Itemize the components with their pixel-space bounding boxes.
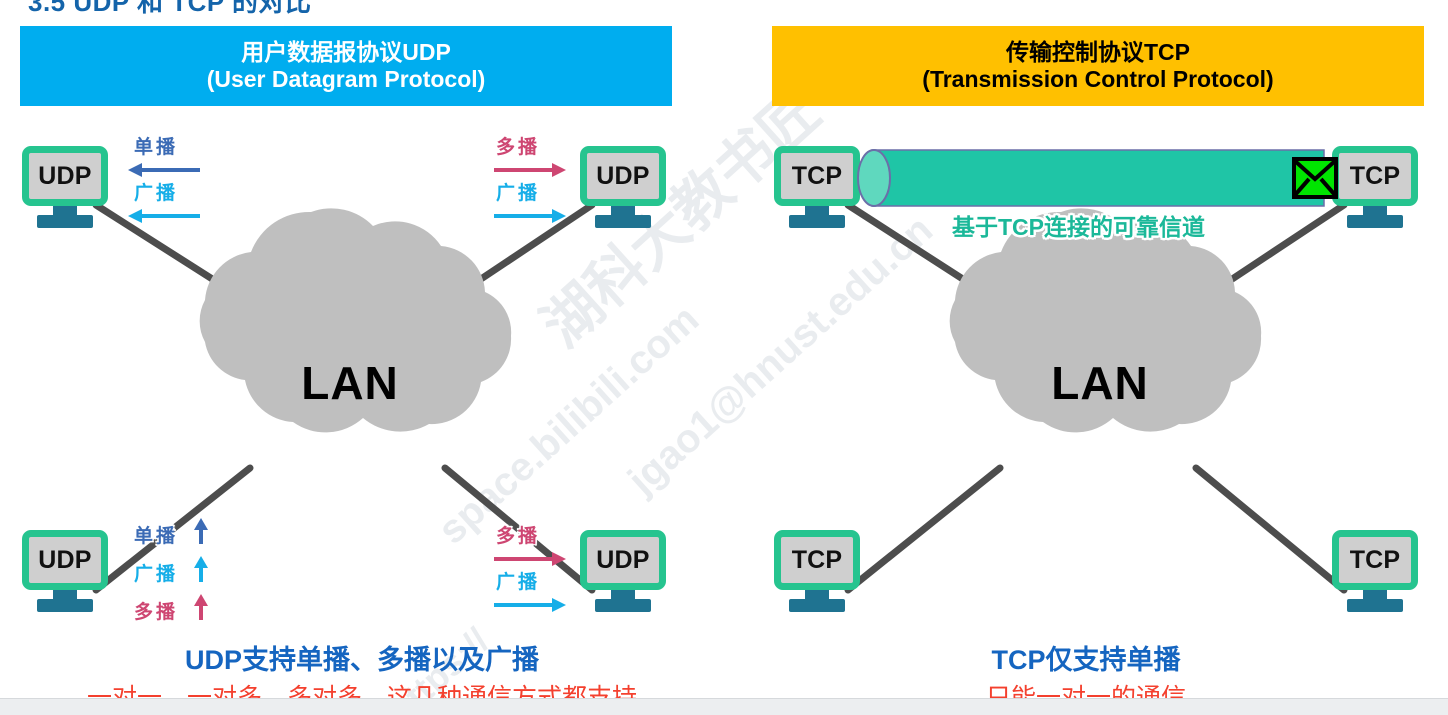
node-neck <box>53 206 77 215</box>
node-udp-top-right[interactable]: UDP <box>580 146 666 228</box>
node-neck <box>1363 590 1387 599</box>
node-neck <box>1363 206 1387 215</box>
udp-lan-label: LAN <box>205 300 495 465</box>
label-udp-bottomright-broadcast: 广播 <box>496 567 540 594</box>
node-base <box>37 599 93 612</box>
node-udp-bottom-left[interactable]: UDP <box>22 530 108 612</box>
bottom-strip <box>0 698 1448 715</box>
node-screen: UDP <box>22 146 108 206</box>
tcp-channel-label: 基于TCP连接的可靠信道 <box>952 208 1205 242</box>
slide-canvas: 3.5 UDP 和 TCP 的对比 湖科大教书匠 space.bilibili.… <box>0 0 1448 715</box>
label-udp-topright-multicast: 多播 <box>496 132 540 159</box>
label-udp-topright-broadcast: 广播 <box>496 178 540 205</box>
node-screen: UDP <box>580 530 666 590</box>
node-screen: TCP <box>774 530 860 590</box>
arrow-udp-topleft-unicast-icon <box>128 162 202 178</box>
label-udp-bottomleft-broadcast: 广播 <box>134 559 178 586</box>
node-udp-bottom-right[interactable]: UDP <box>580 530 666 612</box>
node-base <box>1347 599 1403 612</box>
node-neck <box>611 206 635 215</box>
node-neck <box>53 590 77 599</box>
label-udp-bottomleft-multicast: 多播 <box>134 597 178 624</box>
label-udp-topleft-unicast: 单播 <box>134 132 178 159</box>
node-tcp-top-right[interactable]: TCP <box>1332 146 1418 228</box>
tcp-reliable-channel-pipe <box>856 148 1328 210</box>
node-neck <box>805 206 829 215</box>
node-base <box>789 599 845 612</box>
node-base <box>1347 215 1403 228</box>
node-screen: UDP <box>22 530 108 590</box>
tcp-lan-label: LAN <box>955 300 1245 465</box>
label-udp-bottomright-multicast: 多播 <box>496 521 540 548</box>
udp-cloud-label-wrap: LAN <box>205 300 495 465</box>
node-udp-top-left[interactable]: UDP <box>22 146 108 228</box>
arrow-udp-bottomright-multicast-icon <box>492 551 566 567</box>
node-tcp-top-left[interactable]: TCP <box>774 146 860 228</box>
arrow-udp-bottomleft-broadcast-icon <box>193 556 209 582</box>
arrow-udp-topright-multicast-icon <box>492 162 566 178</box>
udp-caption-main: UDP支持单播、多播以及广播 <box>0 638 724 677</box>
arrow-udp-topright-broadcast-icon <box>492 208 566 224</box>
arrow-udp-bottomleft-multicast-icon <box>193 594 209 620</box>
label-udp-bottomleft-unicast: 单播 <box>134 521 178 548</box>
tcp-cloud-label-wrap: LAN <box>955 300 1245 465</box>
node-tcp-bottom-right[interactable]: TCP <box>1332 530 1418 612</box>
node-screen: TCP <box>1332 530 1418 590</box>
node-base <box>595 215 651 228</box>
arrow-udp-bottomright-broadcast-icon <box>492 597 566 613</box>
node-screen: UDP <box>580 146 666 206</box>
node-neck <box>805 590 829 599</box>
node-base <box>595 599 651 612</box>
node-tcp-bottom-left[interactable]: TCP <box>774 530 860 612</box>
node-screen: TCP <box>774 146 860 206</box>
tcp-caption-main: TCP仅支持单播 <box>724 638 1448 677</box>
node-neck <box>611 590 635 599</box>
envelope-icon <box>1292 157 1338 199</box>
label-udp-topleft-broadcast: 广播 <box>134 178 178 205</box>
node-base <box>37 215 93 228</box>
arrow-udp-topleft-broadcast-icon <box>128 208 202 224</box>
node-base <box>789 215 845 228</box>
arrow-udp-bottomleft-unicast-icon <box>193 518 209 544</box>
node-screen: TCP <box>1332 146 1418 206</box>
